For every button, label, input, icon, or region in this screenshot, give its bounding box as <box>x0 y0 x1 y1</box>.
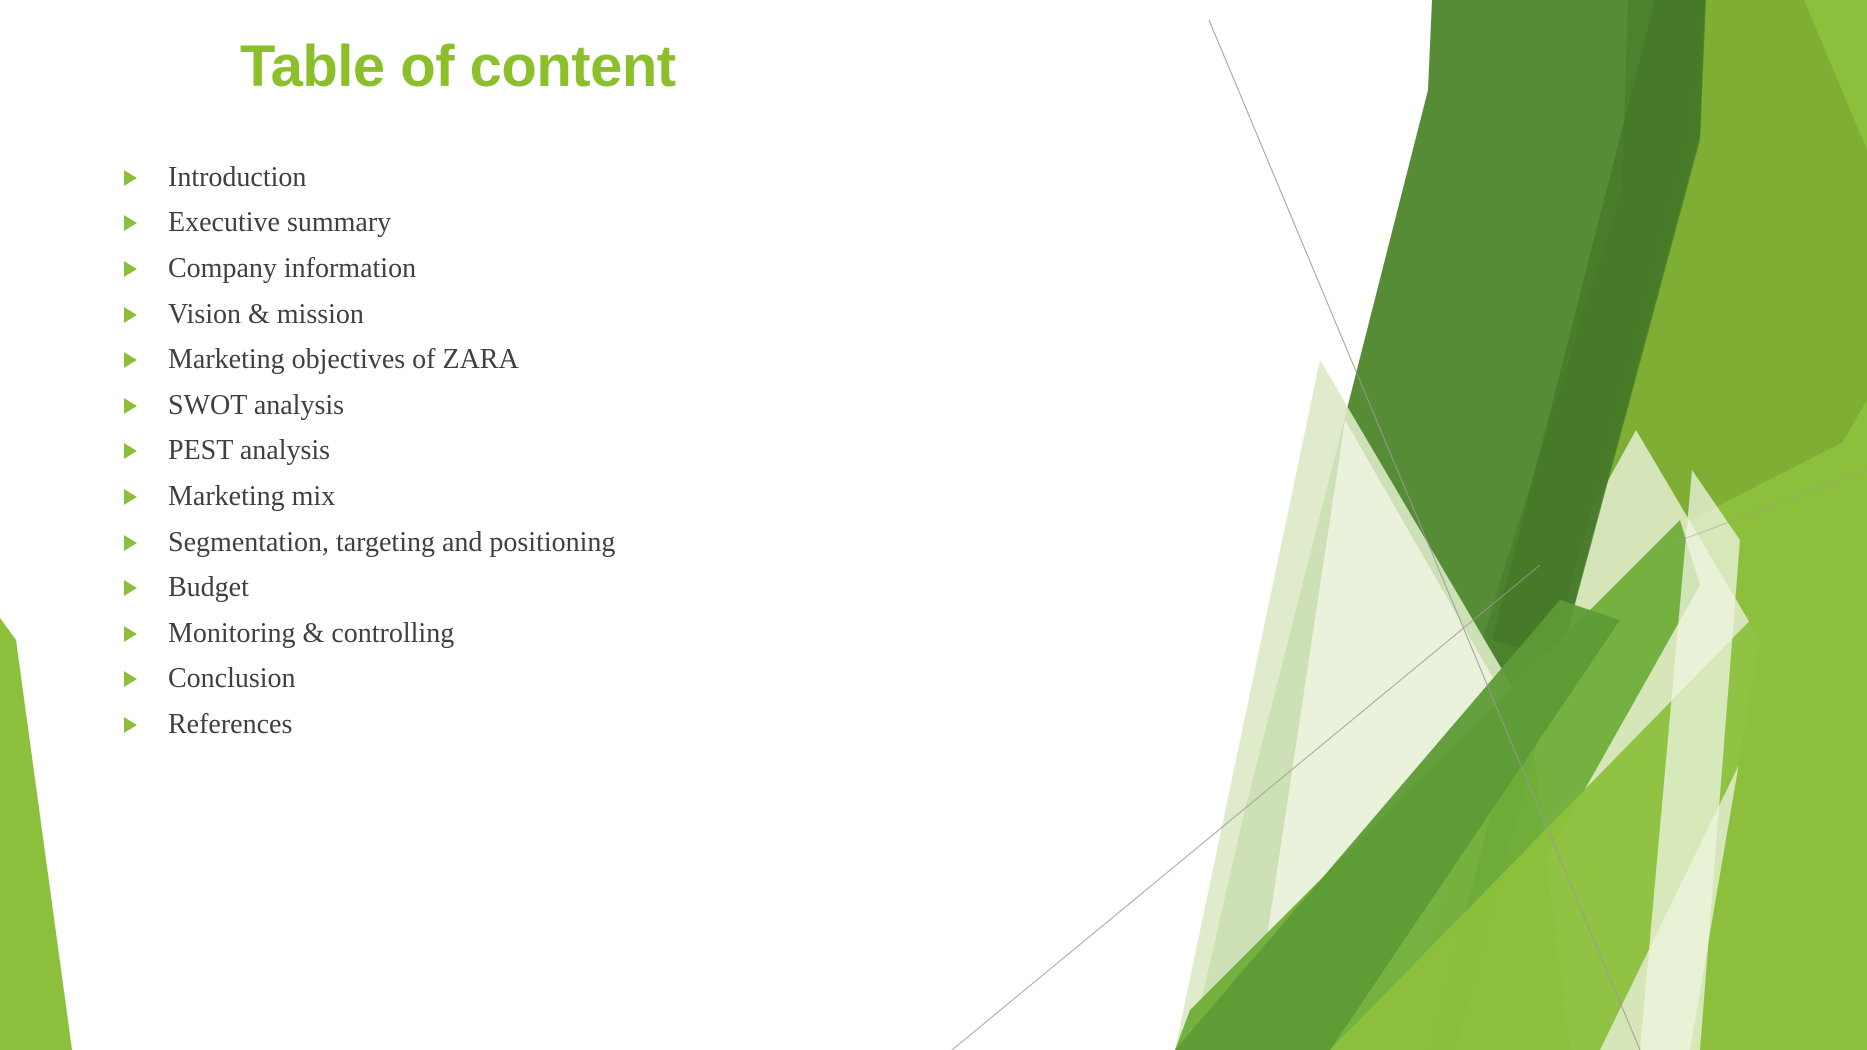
triangle-bullet-icon <box>124 170 137 186</box>
deco-shape-dark-green-main-triangle <box>1190 0 1705 1050</box>
list-item[interactable]: Executive summary <box>118 201 1168 247</box>
list-item-label: Marketing mix <box>168 483 335 511</box>
list-item[interactable]: Introduction <box>118 155 1168 201</box>
list-item-label: Segmentation, targeting and positioning <box>168 529 615 557</box>
list-item[interactable]: Segmentation, targeting and positioning <box>118 520 1168 566</box>
list-item-label: SWOT analysis <box>168 392 344 420</box>
deco-hairline-right-short <box>1660 470 1867 548</box>
list-item[interactable]: SWOT analysis <box>118 383 1168 429</box>
triangle-bullet-icon <box>124 580 137 596</box>
triangle-bullet-icon <box>124 443 137 459</box>
deco-shape-bottom-left-wedge-edge <box>0 618 72 1050</box>
list-item[interactable]: Budget <box>118 565 1168 611</box>
list-item[interactable]: References <box>118 702 1168 748</box>
deco-shape-pale-green-left-wedge <box>1175 360 1520 1050</box>
list-item-label: Marketing objectives of ZARA <box>168 346 519 374</box>
triangle-bullet-icon <box>124 215 137 231</box>
list-item-label: Conclusion <box>168 665 296 693</box>
deco-shape-mid-green-column <box>1300 0 1867 1050</box>
list-item-label: Monitoring & controlling <box>168 620 454 648</box>
deco-shape-white-top-notch <box>1180 0 1215 60</box>
list-item[interactable]: Monitoring & controlling <box>118 611 1168 657</box>
deco-shape-cream-slim-right <box>1640 470 1740 1050</box>
triangle-bullet-icon <box>124 671 137 687</box>
deco-shape-dark-bottom-diagonal <box>1175 600 1620 1050</box>
slide-canvas: Table of content Introduction Executive … <box>0 0 1867 1050</box>
deco-shape-bright-diagonal-band <box>1330 600 1790 1050</box>
deco-shape-light-green-diagonal-band <box>1175 520 1700 1050</box>
list-item[interactable]: Conclusion <box>118 657 1168 703</box>
deco-shape-very-pale-overlay <box>1250 420 1500 1050</box>
triangle-bullet-icon <box>124 398 137 414</box>
page-title: Table of content <box>240 34 676 101</box>
triangle-bullet-icon <box>124 717 137 733</box>
deco-shape-bottom-left-wedge <box>0 618 72 1050</box>
deco-shape-right-palest-fan <box>1560 0 1867 1050</box>
list-item-label: Introduction <box>168 164 306 192</box>
list-item-label: References <box>168 711 292 739</box>
triangle-bullet-icon <box>124 626 137 642</box>
triangle-bullet-icon <box>124 535 137 551</box>
deco-shape-dark-green-deep-wedge <box>1492 0 1706 660</box>
list-item[interactable]: Company information <box>118 246 1168 292</box>
list-item-label: Company information <box>168 255 416 283</box>
list-item[interactable]: Marketing mix <box>118 474 1168 520</box>
deco-shape-right-bright-block <box>1395 0 1867 1050</box>
deco-hairline-steep <box>1209 20 1640 1050</box>
triangle-bullet-icon <box>124 352 137 368</box>
deco-shape-lower-right-bright <box>1430 430 1867 1050</box>
list-item[interactable]: Vision & mission <box>118 292 1168 338</box>
list-item-label: Vision & mission <box>168 301 364 329</box>
table-of-contents-list: Introduction Executive summary Company i… <box>118 155 1168 748</box>
triangle-bullet-icon <box>124 489 137 505</box>
deco-shape-dark-green-shade <box>1355 0 1705 1050</box>
list-item-label: Executive summary <box>168 209 391 237</box>
list-item[interactable]: PEST analysis <box>118 429 1168 475</box>
list-item-label: Budget <box>168 574 249 602</box>
triangle-bullet-icon <box>124 261 137 277</box>
list-item-label: PEST analysis <box>168 437 330 465</box>
triangle-bullet-icon <box>124 307 137 323</box>
list-item[interactable]: Marketing objectives of ZARA <box>118 337 1168 383</box>
deco-shape-pale-sliver-right <box>1520 430 1760 1050</box>
